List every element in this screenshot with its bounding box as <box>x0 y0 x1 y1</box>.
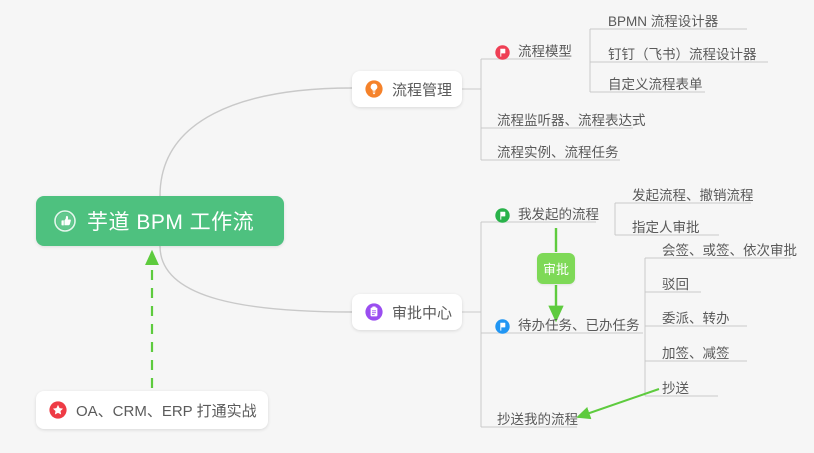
node-my-started-process-label: 我发起的流程 <box>518 208 599 222</box>
thumbs-up-icon <box>54 210 76 232</box>
node-process-instance-task-label: 流程实例、流程任务 <box>497 146 619 160</box>
node-approval-center[interactable]: 审批中心 <box>352 294 462 330</box>
node-dingtalk-feishu-designer-label: 钉钉（飞书）流程设计器 <box>608 48 757 62</box>
root-node[interactable]: 芋道 BPM 工作流 <box>36 196 284 246</box>
node-assignee-approval-label: 指定人审批 <box>632 221 700 235</box>
node-cc-to-me-process[interactable]: 抄送我的流程 <box>489 409 586 433</box>
node-custom-process-form[interactable]: 自定义流程表单 <box>600 74 711 98</box>
star-icon <box>49 401 67 419</box>
node-assignee-approval[interactable]: 指定人审批 <box>624 217 708 241</box>
node-process-listener-expression[interactable]: 流程监听器、流程表达式 <box>489 110 654 134</box>
node-process-instance-task[interactable]: 流程实例、流程任务 <box>489 142 627 166</box>
root-label: 芋道 BPM 工作流 <box>87 206 254 236</box>
node-delegate-transfer[interactable]: 委派、转办 <box>654 308 738 332</box>
node-cc-to-me-process-label: 抄送我的流程 <box>497 413 578 427</box>
node-approval-center-label: 审批中心 <box>392 302 452 323</box>
node-reject-label: 驳回 <box>662 278 689 292</box>
clipboard-icon <box>365 303 383 321</box>
badge-approval-label: 审批 <box>543 259 569 278</box>
node-process-listener-expression-label: 流程监听器、流程表达式 <box>497 114 646 128</box>
node-cc-label: 抄送 <box>662 382 689 396</box>
node-todo-done-task[interactable]: 待办任务、已办任务 <box>489 315 648 339</box>
node-bpmn-designer-label: BPMN 流程设计器 <box>608 15 718 29</box>
node-process-model[interactable]: 流程模型 <box>489 41 580 65</box>
badge-approval: 审批 <box>537 253 575 284</box>
node-dingtalk-feishu-designer[interactable]: 钉钉（飞书）流程设计器 <box>600 44 765 68</box>
node-bpmn-designer[interactable]: BPMN 流程设计器 <box>600 11 726 35</box>
node-my-started-process[interactable]: 我发起的流程 <box>489 204 607 228</box>
arrow-cc-to-ccme <box>578 389 659 417</box>
node-oa-crm-erp[interactable]: OA、CRM、ERP 打通实战 <box>36 391 268 429</box>
node-start-cancel-process[interactable]: 发起流程、撤销流程 <box>624 185 762 209</box>
node-process-management-label: 流程管理 <box>392 79 452 100</box>
wire-root-to-approval-center <box>160 246 352 312</box>
flag-icon <box>495 45 510 60</box>
node-countersign-orsign-sequential[interactable]: 会签、或签、依次审批 <box>654 240 805 264</box>
flag-icon <box>495 208 510 223</box>
node-add-remove-sign[interactable]: 加签、减签 <box>654 343 738 367</box>
node-custom-process-form-label: 自定义流程表单 <box>608 78 703 92</box>
mindmap-canvas: 芋道 BPM 工作流 流程管理 流程模型 BPMN 流程设计器 钉钉（飞书）流程… <box>0 0 814 453</box>
node-cc[interactable]: 抄送 <box>654 378 697 402</box>
node-delegate-transfer-label: 委派、转办 <box>662 312 730 326</box>
node-process-management[interactable]: 流程管理 <box>352 71 462 107</box>
node-reject[interactable]: 驳回 <box>654 274 697 298</box>
lightbulb-icon <box>365 80 383 98</box>
node-start-cancel-process-label: 发起流程、撤销流程 <box>632 189 754 203</box>
node-oa-crm-erp-label: OA、CRM、ERP 打通实战 <box>76 400 257 421</box>
node-process-model-label: 流程模型 <box>518 45 572 59</box>
wire-root-to-process-mgmt <box>160 88 352 196</box>
node-countersign-orsign-sequential-label: 会签、或签、依次审批 <box>662 244 797 258</box>
node-add-remove-sign-label: 加签、减签 <box>662 347 730 361</box>
node-todo-done-task-label: 待办任务、已办任务 <box>518 319 640 333</box>
flag-icon <box>495 319 510 334</box>
